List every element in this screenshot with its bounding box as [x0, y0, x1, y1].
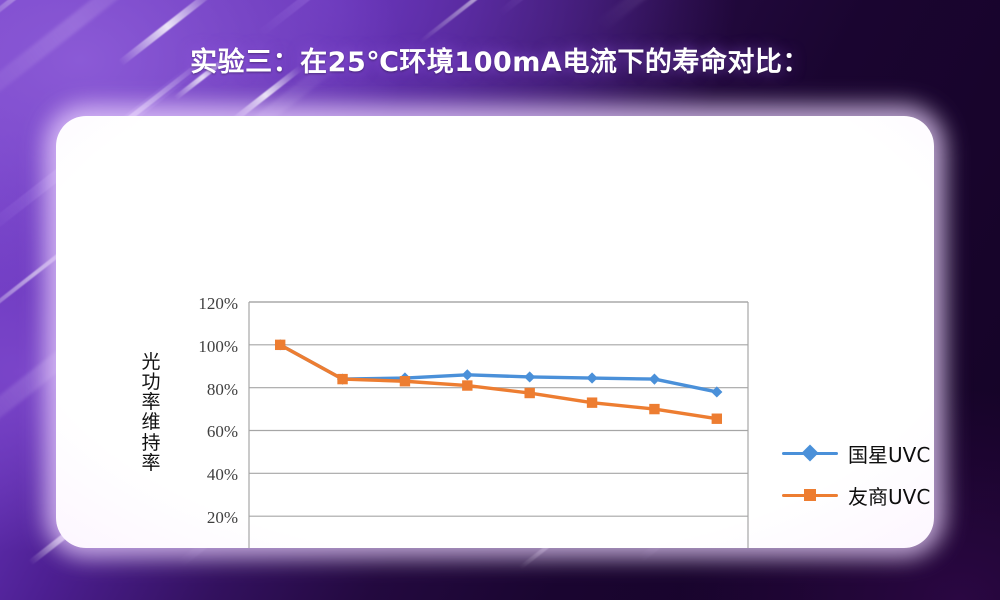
legend-label-0: 国星UVC LED [848, 439, 934, 468]
data-point-0-6 [649, 374, 660, 385]
chart-card: 光 功 率 维 持 率 120% 100% 80% 60% 40% 20% 0%… [56, 116, 934, 548]
data-point-1-4 [524, 388, 534, 398]
data-point-0-4 [524, 371, 535, 382]
legend-marker-square-icon [782, 486, 838, 504]
line-chart: 光 功 率 维 持 率 120% 100% 80% 60% 40% 20% 0%… [56, 116, 934, 548]
data-point-1-5 [587, 397, 597, 407]
slide-canvas: 实验三：在25℃环境100mA电流下的寿命对比： 光 功 率 维 持 率 120… [0, 0, 1000, 600]
legend-label-1: 友商UVC LED [848, 481, 934, 510]
series-markers [275, 339, 723, 424]
legend-entry-0[interactable]: 国星UVC LED [782, 432, 934, 474]
data-point-0-3 [462, 369, 473, 380]
data-point-1-6 [649, 404, 659, 414]
data-point-1-3 [462, 380, 472, 390]
chart-legend: 国星UVC LED 友商UVC LED [782, 432, 934, 516]
plot-border [249, 302, 748, 548]
legend-marker-diamond-icon [782, 444, 838, 462]
data-point-1-0 [275, 340, 285, 350]
data-point-1-2 [400, 376, 410, 386]
series-line-0 [280, 345, 717, 392]
page-title: 实验三：在25℃环境100mA电流下的寿命对比： [0, 40, 1000, 79]
gridlines [249, 302, 748, 548]
data-point-1-7 [712, 414, 722, 424]
data-point-1-1 [337, 374, 347, 384]
data-point-0-5 [586, 372, 597, 383]
legend-entry-1[interactable]: 友商UVC LED [782, 474, 934, 516]
